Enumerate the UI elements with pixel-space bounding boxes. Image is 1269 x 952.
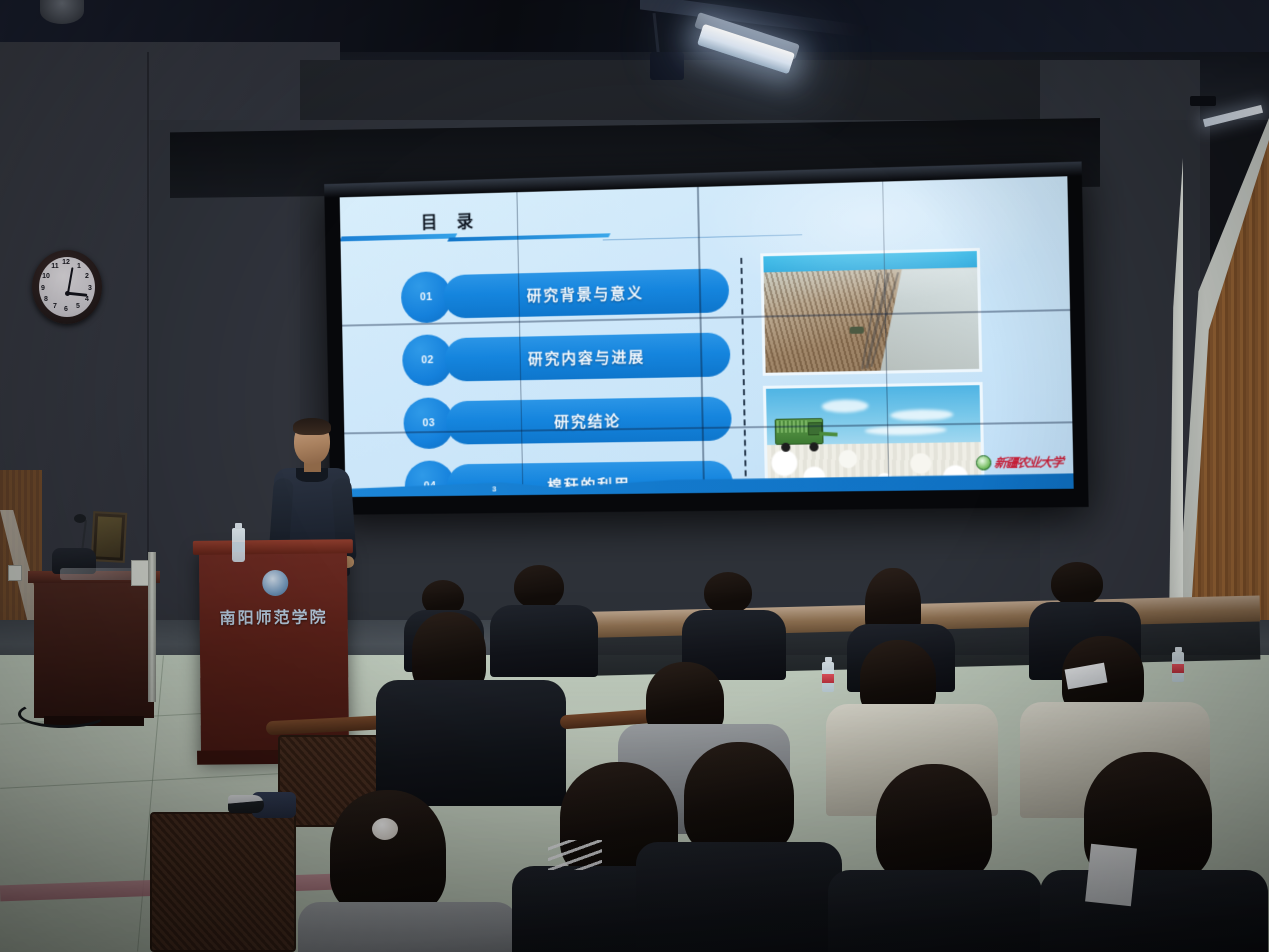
bottle-cap: [235, 523, 242, 529]
clock-hour-hand: [67, 292, 87, 297]
toc-item-label: 研究背景与意义: [527, 282, 644, 306]
audience-torso: [636, 842, 842, 952]
audience-member: [1040, 752, 1260, 952]
light-junction-box: [650, 52, 684, 80]
clock-face: 12 1 2 3 4 5 6 7 8 9 10 11: [39, 257, 95, 317]
microphone-icon: [74, 514, 86, 523]
toc-item[interactable]: 01 研究背景与意义: [401, 262, 736, 325]
clock-numeral: 5: [73, 303, 83, 310]
side-desk: [34, 580, 154, 718]
clock-numeral: 1: [74, 263, 84, 270]
title-accent-bar-a: [340, 233, 458, 241]
audience-head: [514, 565, 564, 609]
university-seal-icon: [976, 455, 992, 470]
clock-numeral: 12: [61, 259, 71, 266]
toc-list: 01 研究背景与意义 02 研究内容与进展 03: [401, 262, 740, 497]
clock-numeral: 10: [41, 273, 51, 280]
audience-hair: [876, 764, 992, 882]
picture-frame: [91, 511, 128, 563]
university-logo: 新疆农业大学: [976, 453, 1063, 471]
picture-frame-inner: [96, 516, 122, 557]
photo-machine-icon: [850, 326, 864, 333]
clock-numeral: 6: [61, 306, 71, 313]
title-hairline: [603, 234, 802, 240]
toc-item-pill[interactable]: 研究背景与意义: [443, 268, 729, 318]
audience-torso: [298, 902, 518, 952]
video-wall[interactable]: 目 录 01 研究背景与意义 02 研究内容与进展: [324, 162, 1089, 515]
coiled-cable: [18, 700, 108, 728]
chair[interactable]: [150, 812, 296, 952]
harvester-icon: [775, 418, 838, 459]
podium-top: [193, 539, 353, 555]
cloud-icon: [821, 399, 868, 413]
clock-numeral: 4: [82, 296, 92, 303]
title-accent-bar-b: [447, 233, 610, 241]
clock-numeral: 3: [85, 285, 95, 292]
clock-numeral: 11: [50, 263, 60, 270]
slide-title: 目 录: [421, 207, 480, 233]
university-name: 新疆农业大学: [994, 453, 1064, 471]
hair-scrunchie: [372, 818, 398, 840]
toc-item[interactable]: 03 研究结论: [403, 390, 738, 451]
slide-dashed-divider: [740, 258, 747, 497]
toc-item-pill[interactable]: 研究结论: [446, 396, 732, 444]
toc-item[interactable]: 02 研究内容与进展: [402, 326, 737, 388]
wall-socket-icon: [131, 560, 149, 586]
clock-numeral: 2: [82, 273, 92, 280]
wall-socket-icon: [8, 565, 22, 581]
lecture-hall-photo: 12 1 2 3 4 5 6 7 8 9 10 11 目 录: [0, 0, 1269, 952]
wall-clock: 12 1 2 3 4 5 6 7 8 9 10 11: [32, 250, 102, 324]
audience-torso: [1040, 870, 1268, 952]
toc-item-label: 研究内容与进展: [528, 346, 646, 369]
audience-member: [828, 764, 1038, 952]
clock-minute-hand: [67, 267, 73, 293]
audience-head: [1051, 562, 1103, 606]
audience-member: [690, 572, 778, 670]
bottle-label: [232, 542, 245, 552]
presentation-slide: 目 录 01 研究背景与意义 02 研究内容与进展: [340, 176, 1074, 497]
sleeve-stripes: [548, 840, 602, 870]
presenter-hair: [293, 418, 331, 435]
audience-head: [704, 572, 752, 614]
harvester-wheel: [782, 443, 791, 452]
toc-item-pill[interactable]: 研究内容与进展: [444, 332, 730, 381]
shoe: [228, 795, 264, 813]
audience-torso: [828, 870, 1042, 952]
clock-numeral: 8: [41, 296, 51, 303]
podium-institution-name: 南阳师范学院: [199, 603, 347, 629]
audience-member: [288, 790, 508, 952]
podium-seal-icon: [262, 570, 288, 596]
slide-page-number: 3: [492, 484, 497, 493]
ceiling-speaker-icon: [1190, 96, 1216, 106]
audience-hair: [330, 790, 446, 914]
clock-center-pin: [65, 291, 70, 296]
audience-member: [636, 742, 836, 952]
paper-sheet: [1085, 844, 1137, 906]
harvester-wheel: [810, 442, 819, 451]
metal-post: [148, 552, 156, 702]
floor-tile-line: [0, 772, 300, 789]
audience-hair: [684, 742, 794, 854]
clock-numeral: 9: [38, 285, 48, 292]
water-bottle: [232, 528, 245, 562]
video-wall-display[interactable]: 目 录 01 研究背景与意义 02 研究内容与进展: [340, 176, 1074, 497]
clock-numeral: 7: [50, 303, 60, 310]
